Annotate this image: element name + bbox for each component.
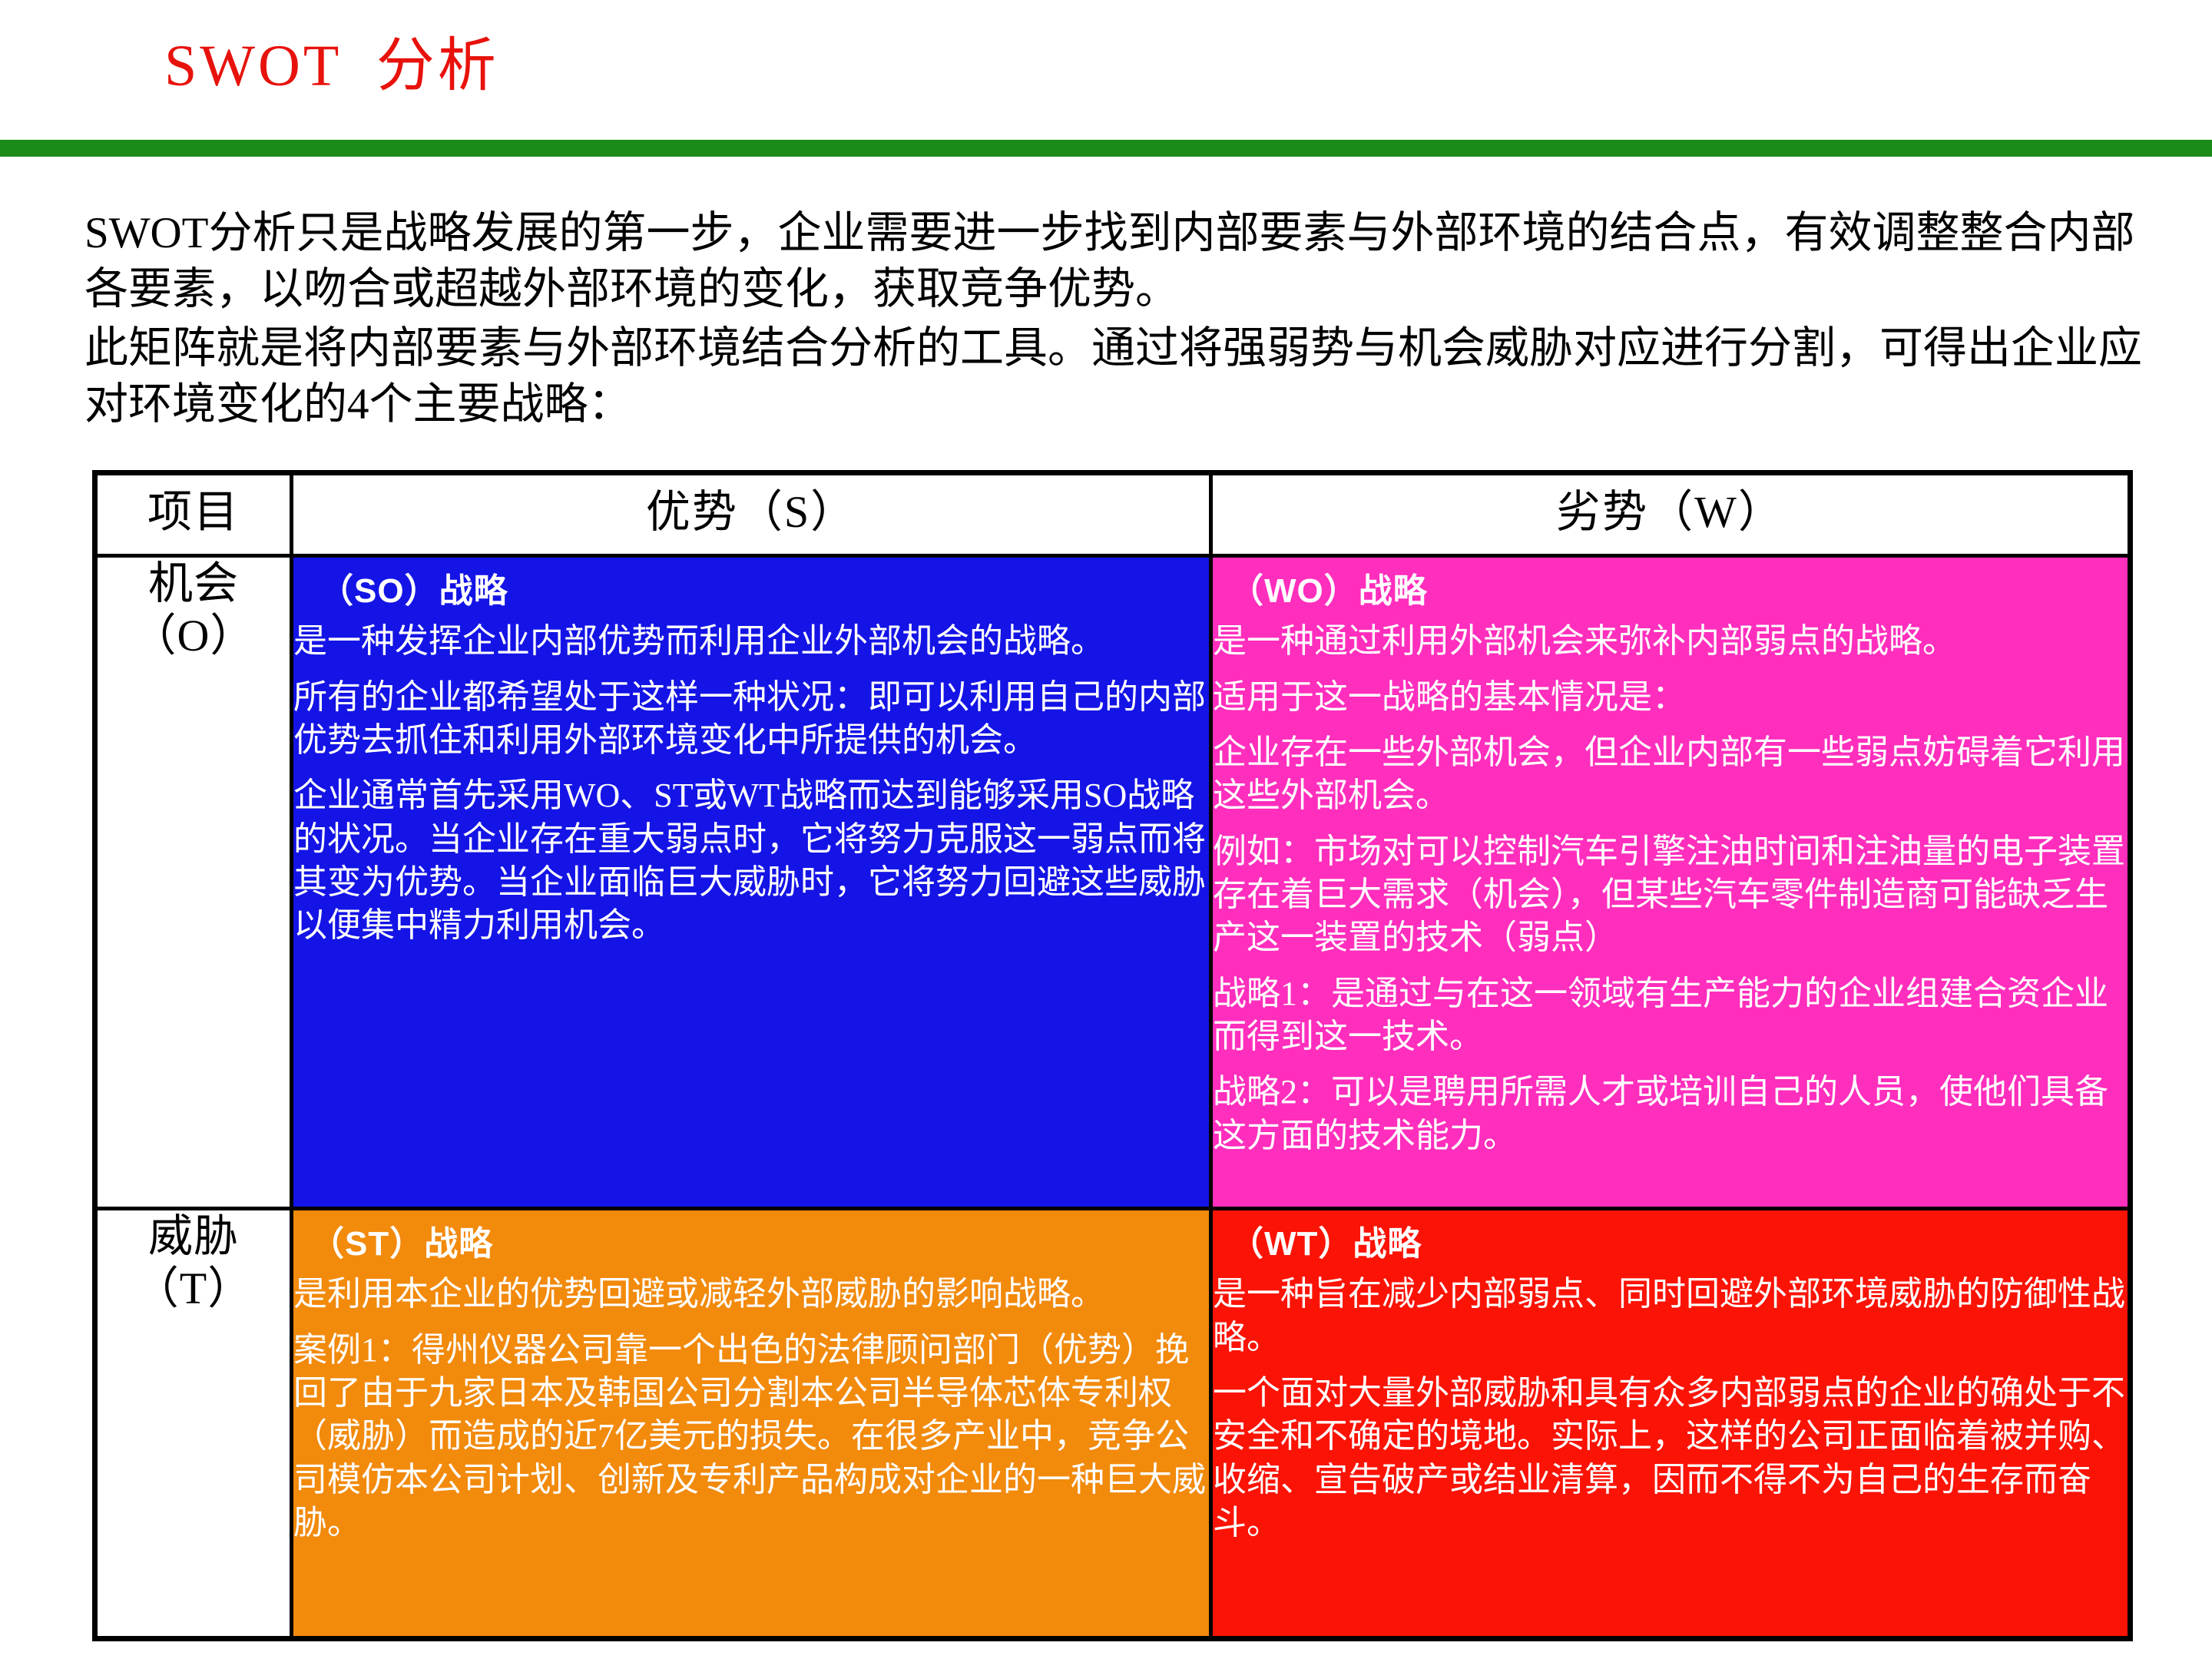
quadrant-wt-title: （WT）战略 [1230, 1221, 2128, 1267]
matrix-header-row: 项目 优势（S） 劣势（W） [95, 473, 2131, 556]
header-cell-item: 项目 [95, 473, 292, 556]
header-cell-weakness: 劣势（W） [1211, 473, 2131, 556]
row-label-threat-line1: 威胁 [98, 1210, 290, 1263]
row-label-opportunity: 机会 （O） [95, 556, 292, 1209]
quadrant-so-paragraph-3: 企业通常首先采用WO、ST或WT战略而达到能够采用SO战略的状况。当企业存在重大… [293, 774, 1209, 947]
title-divider-rule [0, 140, 2212, 157]
intro-paragraph-1: SWOT分析只是战略发展的第一步，企业需要进一步找到内部要素与外部环境的结合点，… [84, 206, 2143, 318]
quadrant-st-title: （ST）战略 [310, 1221, 1209, 1267]
matrix-row-opportunity: 机会 （O） （SO）战略 是一种发挥企业内部优势而利用企业外部机会的战略。 所… [95, 556, 2131, 1209]
quadrant-wt-paragraph-1: 是一种旨在减少内部弱点、同时回避外部环境威胁的防御性战略。 [1213, 1273, 2128, 1359]
quadrant-st: （ST）战略 是利用本企业的优势回避或减轻外部威胁的影响战略。 案例1：得州仪器… [292, 1209, 1211, 1639]
row-label-opportunity-line1: 机会 [98, 558, 290, 610]
row-label-opportunity-line2: （O） [98, 610, 290, 662]
matrix-row-threat: 威胁 （T） （ST）战略 是利用本企业的优势回避或减轻外部威胁的影响战略。 案… [95, 1209, 2131, 1639]
quadrant-wo-paragraph-3: 企业存在一些外部机会，但企业内部有一些弱点妨碍着它利用这些外部机会。 [1213, 731, 2128, 818]
row-label-threat-line2: （T） [98, 1263, 290, 1315]
quadrant-wt-paragraph-2: 一个面对大量外部威胁和具有众多内部弱点的企业的确处于不安全和不确定的境地。实际上… [1213, 1372, 2128, 1545]
quadrant-wt: （WT）战略 是一种旨在减少内部弱点、同时回避外部环境威胁的防御性战略。 一个面… [1211, 1209, 2131, 1639]
quadrant-wo-paragraph-6: 战略2：可以是聘用所需人才或培训自己的人员，使他们具备这方面的技术能力。 [1213, 1071, 2128, 1157]
quadrant-so-paragraph-2: 所有的企业都希望处于这样一种状况：即可以利用自己的内部优势去抓住和利用外部环境变… [293, 676, 1209, 763]
quadrant-so-title: （SO）战略 [320, 568, 1209, 614]
quadrant-st-paragraph-1: 是利用本企业的优势回避或减轻外部威胁的影响战略。 [293, 1273, 1209, 1316]
quadrant-wo-paragraph-5: 战略1：是通过与在这一领域有生产能力的企业组建合资企业而得到这一技术。 [1213, 972, 2128, 1059]
quadrant-wo: （WO）战略 是一种通过利用外部机会来弥补内部弱点的战略。 适用于这一战略的基本… [1211, 556, 2131, 1209]
row-label-threat: 威胁 （T） [95, 1209, 292, 1639]
intro-text-block: SWOT分析只是战略发展的第一步，企业需要进一步找到内部要素与外部环境的结合点，… [84, 206, 2143, 436]
header-cell-strength: 优势（S） [292, 473, 1211, 556]
quadrant-so: （SO）战略 是一种发挥企业内部优势而利用企业外部机会的战略。 所有的企业都希望… [292, 556, 1211, 1209]
quadrant-wo-paragraph-4: 例如：市场对可以控制汽车引擎注油时间和注油量的电子装置存在着巨大需求（机会），但… [1213, 830, 2128, 960]
swot-matrix-table: 项目 优势（S） 劣势（W） 机会 （O） （SO）战略 是一种发挥企业内部优势… [92, 470, 2133, 1641]
quadrant-wo-paragraph-1: 是一种通过利用外部机会来弥补内部弱点的战略。 [1213, 620, 2128, 663]
quadrant-so-paragraph-1: 是一种发挥企业内部优势而利用企业外部机会的战略。 [293, 620, 1209, 663]
quadrant-wo-paragraph-2: 适用于这一战略的基本情况是： [1213, 676, 2128, 719]
quadrant-st-paragraph-2: 案例1：得州仪器公司靠一个出色的法律顾问部门（优势）挽回了由于九家日本及韩国公司… [293, 1329, 1209, 1545]
quadrant-wo-title: （WO）战略 [1230, 568, 2128, 614]
page-title: SWOT 分析 [164, 37, 499, 95]
intro-paragraph-2: 此矩阵就是将内部要素与外部环境结合分析的工具。通过将强弱势与机会威胁对应进行分割… [84, 321, 2143, 433]
